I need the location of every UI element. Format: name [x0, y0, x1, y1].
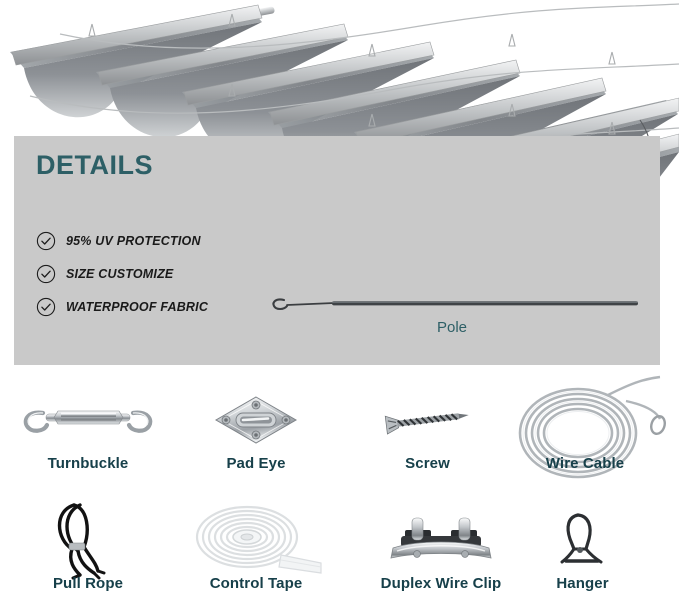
details-title: DETAILS [36, 150, 153, 181]
accessory-duplex-wire-clip: Duplex Wire Clip [355, 505, 527, 592]
feature-label: SIZE CUSTOMIZE [66, 267, 173, 281]
accessory-pad-eye: Pad Eye [170, 385, 342, 472]
accessory-pull-rope: Pull Rope [0, 505, 176, 592]
accessory-screw: Screw [345, 385, 510, 472]
control-tape-icon [170, 505, 342, 575]
accessory-label: Hanger [520, 575, 645, 592]
feature-item-waterproof-fabric: WATERPROOF FABRIC [36, 292, 208, 321]
feature-item-size-customize: SIZE CUSTOMIZE [36, 259, 208, 288]
accessory-label: Pad Eye [170, 455, 342, 472]
check-circle-icon [36, 264, 56, 284]
accessory-control-tape: Control Tape [170, 505, 342, 592]
hanger-icon [520, 505, 645, 575]
feature-label: 95% UV PROTECTION [66, 234, 201, 248]
pole-icon [262, 287, 642, 321]
accessory-label: Screw [345, 455, 510, 472]
turnbuckle-icon [0, 385, 176, 455]
feature-item-uv-protection: 95% UV PROTECTION [36, 226, 208, 255]
accessory-turnbuckle: Turnbuckle [0, 385, 176, 472]
duplex-wire-clip-icon [355, 505, 527, 575]
accessory-label: Wire Cable [500, 455, 670, 472]
pad-eye-icon [170, 385, 342, 455]
wire-cable-icon [500, 385, 670, 455]
accessory-label: Duplex Wire Clip [355, 575, 527, 592]
feature-label: WATERPROOF FABRIC [66, 300, 208, 314]
feature-list: 95% UV PROTECTION SIZE CUSTOMIZE WATERPR… [36, 226, 208, 325]
screw-icon [345, 385, 510, 455]
pole-label: Pole [262, 319, 642, 336]
pole-figure: Pole [262, 287, 642, 347]
check-circle-icon [36, 297, 56, 317]
accessory-hanger: Hanger [520, 505, 645, 592]
accessory-label: Pull Rope [0, 575, 176, 592]
accessory-wire-cable: Wire Cable [500, 385, 670, 472]
check-circle-icon [36, 231, 56, 251]
pull-rope-icon [0, 505, 176, 575]
accessory-label: Turnbuckle [0, 455, 176, 472]
